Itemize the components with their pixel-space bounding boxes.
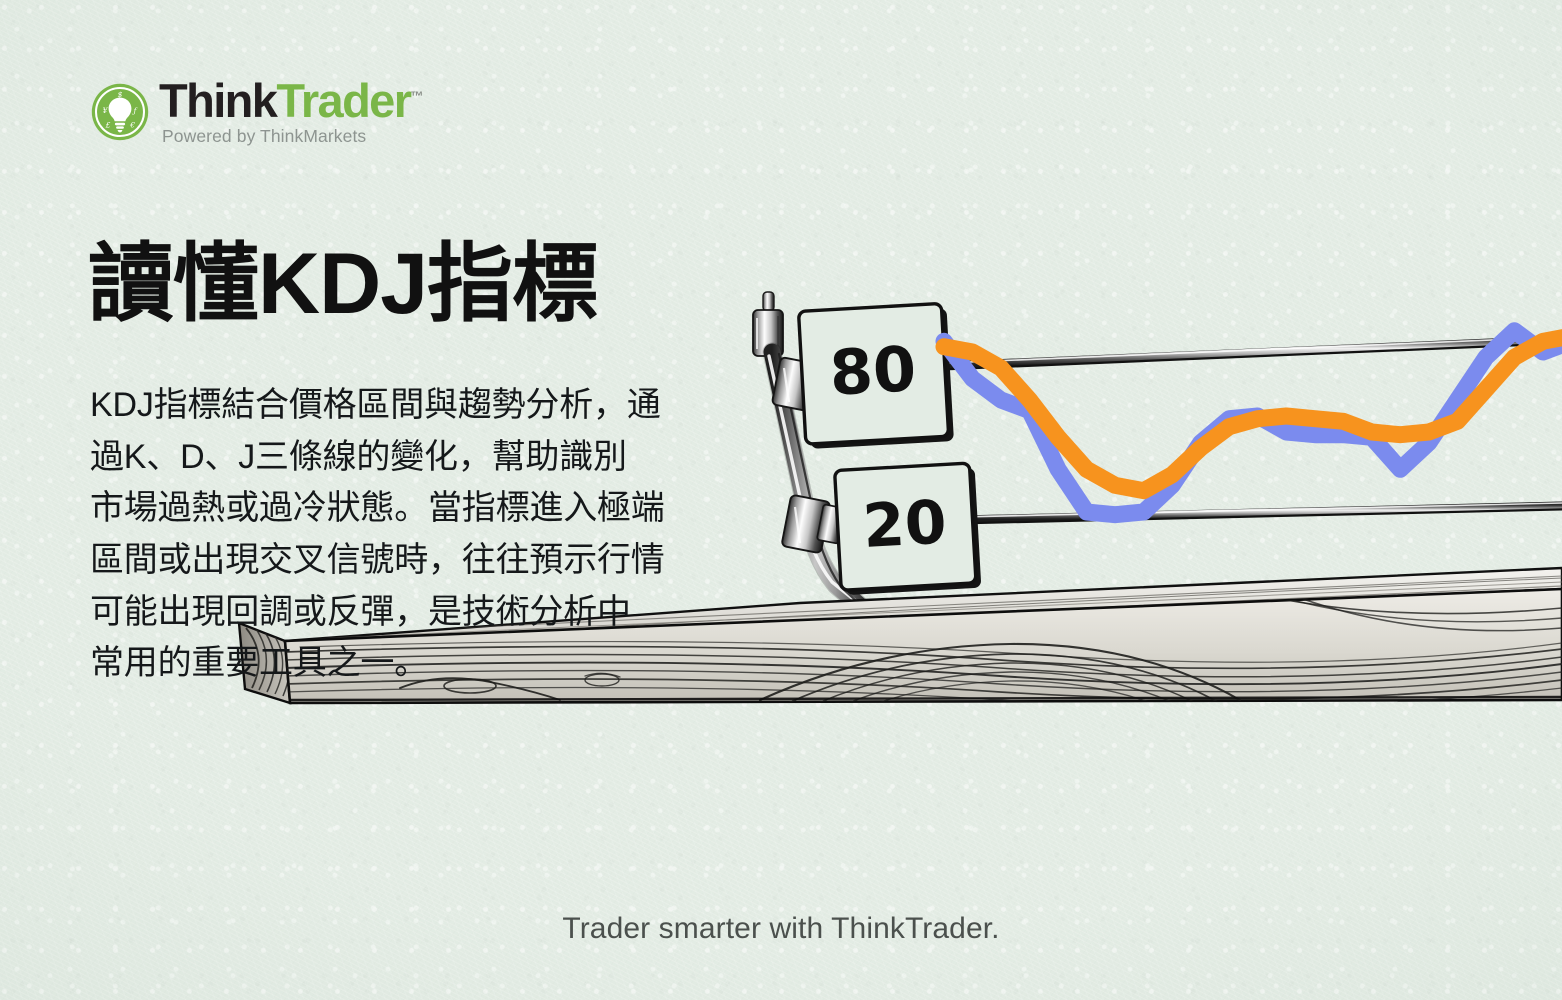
body-line: 常用的重要工具之一。 <box>90 638 730 690</box>
logo-trademark: ™ <box>410 88 423 103</box>
svg-text:£: £ <box>105 121 111 130</box>
sign-label-20: 20 <box>861 487 948 562</box>
body-copy: KDJ指標結合價格區間與趨勢分析，通 過K、D、J三條線的變化，幫助識別 市場過… <box>90 380 730 690</box>
body-line: 市場過熱或過冷狀態。當指標進入極端 <box>90 483 730 535</box>
body-line: 區間或出現交叉信號時，往往預示行情 <box>90 535 730 587</box>
logo-tagline: Powered by ThinkMarkets <box>162 126 423 147</box>
body-line: 過K、D、J三條線的變化，幫助識別 <box>90 432 730 484</box>
lightbulb-coin-icon: $ ¥ ƒ £ € <box>90 82 150 142</box>
oversold-threshold-sign: 20 <box>835 463 982 596</box>
page-title: 讀懂KDJ指標 <box>88 238 597 331</box>
sign-label-80: 80 <box>828 332 918 410</box>
thinktrader-logo[interactable]: $ ¥ ƒ £ € ThinkTrader™ Powered by ThinkM… <box>90 78 423 147</box>
svg-text:€: € <box>129 121 135 130</box>
footer-tagline: Trader smarter with ThinkTrader. <box>0 912 1562 946</box>
body-line: KDJ指標結合價格區間與趨勢分析，通 <box>90 380 730 432</box>
logo-text-block: ThinkTrader™ Powered by ThinkMarkets <box>159 78 423 147</box>
body-line: 可能出現回調或反彈，是技術分析中 <box>90 587 730 639</box>
logo-wordmark: ThinkTrader™ <box>159 78 423 124</box>
logo-word-trader: Trader <box>276 74 410 127</box>
svg-text:$: $ <box>118 90 123 99</box>
overbought-threshold-sign: 80 <box>798 303 953 449</box>
threshold-rails <box>944 337 1562 531</box>
logo-word-think: Think <box>159 74 276 127</box>
